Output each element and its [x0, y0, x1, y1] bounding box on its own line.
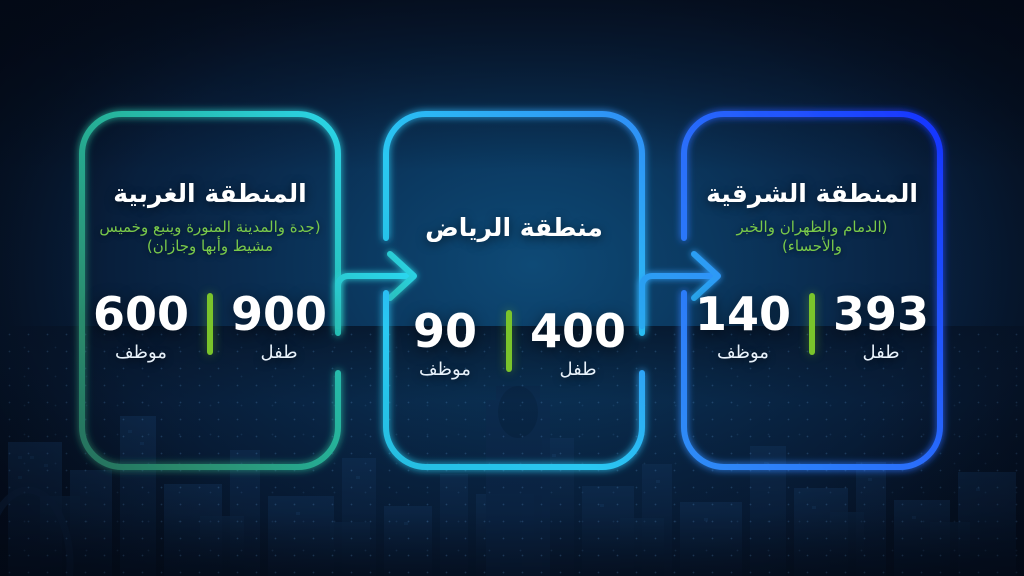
stat-label: طفل	[260, 344, 297, 362]
stat-label: موظف	[717, 344, 769, 362]
stat-label: طفل	[862, 344, 899, 362]
infographic-stage: المنطقة الغربية (جدة والمدينة المنورة وي…	[0, 0, 1024, 576]
stat-label: موظف	[419, 361, 471, 379]
stat-divider	[207, 293, 213, 355]
stat-value: 400	[530, 308, 626, 354]
card-content-eastern: المنطقة الشرقية (الدمام والظهران والخبر …	[678, 108, 946, 473]
stat-value: 90	[413, 308, 477, 354]
stat-label: طفل	[559, 361, 596, 379]
region-card-eastern[interactable]: المنطقة الشرقية (الدمام والظهران والخبر …	[678, 108, 946, 473]
card-title: المنطقة الغربية	[113, 180, 307, 209]
region-card-western[interactable]: المنطقة الغربية (جدة والمدينة المنورة وي…	[76, 108, 344, 473]
stat-label: موظف	[115, 344, 167, 362]
card-stats: 900 طفل 600 موظف	[76, 291, 344, 362]
card-title: منطقة الرياض	[425, 214, 603, 243]
card-content-western: المنطقة الغربية (جدة والمدينة المنورة وي…	[76, 108, 344, 473]
stat-value: 600	[93, 291, 189, 337]
stat-value: 393	[833, 291, 929, 337]
card-subtitle: (جدة والمدينة المنورة وينبع وخميس مشيط و…	[93, 218, 327, 257]
stat-children: 900 طفل	[217, 291, 341, 362]
stat-value: 140	[695, 291, 791, 337]
card-subtitle: (الدمام والظهران والخبر والأحساء)	[705, 218, 919, 257]
stat-divider	[506, 310, 512, 372]
stat-children: 393 طفل	[819, 291, 943, 362]
stat-staff: 140 موظف	[681, 291, 805, 362]
stat-divider	[809, 293, 815, 355]
card-content-riyadh: منطقة الرياض 400 طفل 90 موظف	[380, 108, 648, 473]
region-card-riyadh[interactable]: منطقة الرياض 400 طفل 90 موظف	[380, 108, 648, 473]
card-title: المنطقة الشرقية	[706, 180, 918, 209]
stat-children: 400 طفل	[516, 308, 640, 379]
card-stats: 393 طفل 140 موظف	[678, 291, 946, 362]
stat-value: 900	[231, 291, 327, 337]
cards-container: المنطقة الغربية (جدة والمدينة المنورة وي…	[0, 0, 1024, 576]
stat-staff: 90 موظف	[388, 308, 502, 379]
card-stats: 400 طفل 90 موظف	[380, 308, 648, 379]
stat-staff: 600 موظف	[79, 291, 203, 362]
